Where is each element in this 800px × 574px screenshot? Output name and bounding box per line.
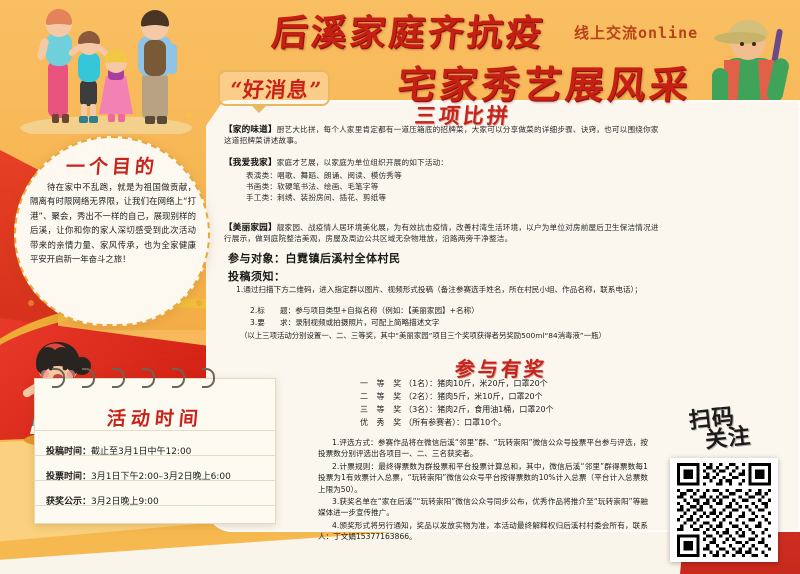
prize-list: 一 等 奖（1名）：猪肉10斤，米20斤，口罩20个 二 等 奖（2名）：猪肉5… [360,378,554,430]
prize-rule-1: 2.计票规则：最终得票数为群投票和平台投票计算总和，其中，微信后溪“邻里”群得票… [318,461,648,495]
prize-qty-2: （3名）： [404,405,437,414]
submission-heading: 投稿须知： [228,268,286,284]
scan-qr-label-line2: 关注 [704,426,752,452]
schedule-heading: 活动时间 [33,404,277,431]
prize-qty-3: （所有参赛者）： [404,418,464,427]
purpose-body-text: 待在家中不乱跑，就是为祖国做贡献，隔离有时限网络无界限，让我们在网络上“打港”、… [30,180,196,267]
schedule-label-0: 投稿时间： [46,447,91,457]
submission-item-2: 3.要 求：录制视频或拍摄照片，可配上简略描述文字 [250,317,650,328]
submission-item-1: 2.标 题：参与项目类型+自拟名称（例如：【美丽家园】+名称） [250,305,650,316]
purpose-heading: 一个目的 [13,152,211,179]
prize-row: 三 等 奖（3名）：猪肉2斤，食用油1桶，口罩20个 [360,404,554,417]
contest-item-1: 【我爱我家】家庭才艺展，以家庭为单位组织开展的如下活动： 表演类：唱歌、舞蹈、朗… [224,157,464,204]
qr-code-image[interactable] [675,463,773,557]
prize-rank-0: 一 等 奖 [360,379,404,388]
family-of-four-illustration [8,2,204,134]
prize-reward-1: 猪肉5斤，米10斤，口罩20个 [437,392,542,401]
prize-row: 一 等 奖（1名）：猪肉10斤，米20斤，口罩20个 [360,378,554,391]
submission-item-0: 1.通过扫描下方二维码，进入指定群以图片、视频形式投稿（备注参赛选手姓名，所在村… [236,284,650,295]
poster-subtitle-online: 线上交流online [574,22,698,43]
schedule-label-1: 投票时间： [46,472,91,482]
qr-code-container[interactable] [670,458,778,562]
schedule-row: 投稿时间：截止至3月1日中午12:00 [46,440,278,465]
prize-qty-1: （2名）： [404,392,437,401]
prize-rank-1: 二 等 奖 [360,392,404,401]
contest-text-2: 靓家园、战疫情人居环境美化展，为有效抗击疫情，改善村湾生活环境，以户为单位对房前… [224,223,659,243]
prize-reward-0: 猪肉10斤，米20斤，口罩20个 [437,379,548,388]
prize-rule-2: 3.获奖名单在“家在后溪”“玩转崇阳”微信公众号同步公布，优秀作品将推介至“玩转… [318,496,648,519]
schedule-row: 投票时间：3月1日下午2:00–3月2日晚上6:00 [46,465,278,490]
contest-tag-1: 【我爱我家】 [224,158,277,168]
submission-footnote: （以上三项活动分别设置一、二、三等奖，其中“美丽家园”项目三个奖项获得者另奖励5… [240,330,606,341]
participants-label: 参与对象：白霓镇后溪村全体村民 [228,250,401,266]
prize-rules: 1.评选方式：参赛作品将在微信后溪“邻里”群、“玩转崇阳”微信公众号投票平台参与… [318,437,648,544]
contest-text-1: 家庭才艺展，以家庭为单位组织开展的如下活动： [277,158,448,167]
prize-rank-2: 三 等 奖 [360,405,404,414]
prize-reward-2: 猪肉2斤，食用油1桶，口罩20个 [437,405,553,414]
poster-title-line1: 后溪家庭齐抗疫 [269,4,547,56]
prize-reward-3: 口罩10个。 [464,418,506,427]
prize-row: 二 等 奖（2名）：猪肉5斤，米10斤，口罩20个 [360,391,554,404]
contest-item-2: 【美丽家园】靓家园、战疫情人居环境美化展，为有效抗击疫情，改善村湾生活环境，以户… [224,222,664,245]
prize-rule-3: 4.颁奖形式将另行通知，奖品以发放实物为准，本活动最终解释权归后溪村村委会所有，… [318,520,648,543]
prize-row: 优 秀 奖（所有参赛者）：口罩10个。 [360,417,554,430]
contest-tag-2: 【美丽家园】 [224,223,277,233]
contest-sub-1-2: 手工类：刺绣、装扮房间、插花、剪纸等 [224,193,464,204]
schedule-value-0: 截止至3月1日中午12:00 [91,447,191,457]
schedule-value-2: 3月2日晚上9:00 [91,497,159,507]
schedule-spiral-binding [52,368,260,388]
prize-rank-3: 优 秀 奖 [360,418,404,427]
prize-rule-0: 1.评选方式：参赛作品将在微信后溪“邻里”群、“玩转崇阳”微信公众号投票平台参与… [318,437,648,460]
schedule-rows: 投稿时间：截止至3月1日中午12:00 投票时间：3月1日下午2:00–3月2日… [46,440,278,515]
contest-tag-0: 【家的味道】 [224,125,277,135]
poster-root: 后溪家庭齐抗疫 线上交流online 宅家秀艺展风采 “好消息” 一个目的 待在… [0,0,800,574]
prize-qty-0: （1名）： [404,379,437,388]
schedule-label-2: 获奖公示： [46,497,91,507]
contest-sub-1-0: 表演类：唱歌、舞蹈、朗诵、阅读、模仿秀等 [224,171,464,182]
good-news-label: “好消息” [221,74,332,104]
contest-item-0: 【家的味道】厨艺大比拼，每个人家里肯定都有一道压箱底的招牌菜，大家可以分享做菜的… [224,124,664,147]
contest-sub-1-1: 书画类：软硬笔书法、绘画、毛笔字等 [224,182,464,193]
contest-text-0: 厨艺大比拼，每个人家里肯定都有一道压箱底的招牌菜，大家可以分享做菜的详细步骤、诀… [224,125,659,145]
schedule-row: 获奖公示：3月2日晚上9:00 [46,490,278,515]
scan-qr-label: 扫码 关注 [688,405,752,453]
schedule-value-1: 3月1日下午2:00–3月2日晚上6:00 [91,472,231,482]
